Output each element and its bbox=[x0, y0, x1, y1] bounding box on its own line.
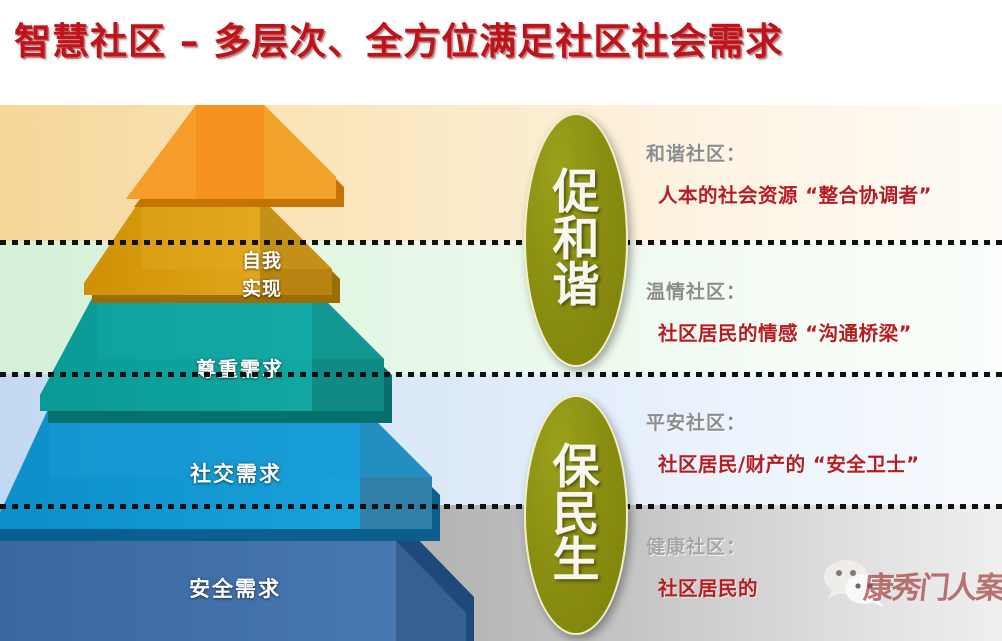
pyramid-label-self-actualization: 自我 实现 bbox=[228, 247, 296, 303]
block-subtext: 人本的社会资源 “整合协调者” bbox=[658, 179, 1002, 208]
block-subtext: 社区居民的 bbox=[658, 572, 1002, 601]
pyramid-layer-esteem bbox=[84, 197, 340, 303]
title-bar: 智慧社区 – 多层次、全方位满足社区社会需求 bbox=[0, 0, 1002, 105]
pyramid-label-social: 社交需求 bbox=[190, 458, 282, 488]
dotted-divider-2 bbox=[0, 372, 1002, 378]
badge-char: 促 bbox=[553, 170, 600, 217]
block-heading: 健康社区： bbox=[646, 532, 1002, 559]
text-block-harmonious-community: 和谐社区： 人本的社会资源 “整合协调者” bbox=[646, 139, 1002, 208]
badge-char: 谐 bbox=[553, 263, 600, 310]
label-line-1: 自我 bbox=[242, 250, 282, 272]
dotted-divider-3 bbox=[0, 504, 1002, 510]
block-heading: 温情社区： bbox=[646, 277, 1002, 304]
text-block-safe-community: 平安社区： 社区居民/财产的 “安全卫士” bbox=[646, 408, 1002, 477]
block-subtext: 社区居民的情感 “沟通桥梁” bbox=[658, 317, 1002, 346]
label-line-2: 实现 bbox=[242, 278, 282, 300]
block-subtext: 社区居民/财产的 “安全卫士” bbox=[658, 448, 1002, 477]
slide-canvas: 自我 实现 尊重需求 社交需求 安全需求 生存需求 促 和 谐 保 民 生 和谐… bbox=[0, 0, 1002, 641]
badge-protect-livelihood: 保 民 生 bbox=[524, 395, 628, 635]
block-heading: 和谐社区： bbox=[646, 139, 1002, 166]
pyramid-label-safety: 安全需求 bbox=[189, 573, 281, 603]
page-title: 智慧社区 – 多层次、全方位满足社区社会需求 bbox=[14, 11, 783, 65]
text-block-healthy-community: 健康社区： 社区居民的 bbox=[646, 532, 1002, 601]
text-block-warm-community: 温情社区： 社区居民的情感 “沟通桥梁” bbox=[646, 277, 1002, 346]
badge-promote-harmony: 促 和 谐 bbox=[524, 113, 628, 367]
badge-char: 和 bbox=[553, 217, 600, 264]
dotted-divider-1 bbox=[0, 240, 1002, 246]
badge-char: 生 bbox=[553, 538, 600, 585]
badge-char: 民 bbox=[553, 492, 600, 539]
block-heading: 平安社区： bbox=[646, 408, 1002, 435]
pyramid-layer-self-actualization bbox=[126, 105, 344, 207]
badge-char: 保 bbox=[553, 445, 600, 492]
